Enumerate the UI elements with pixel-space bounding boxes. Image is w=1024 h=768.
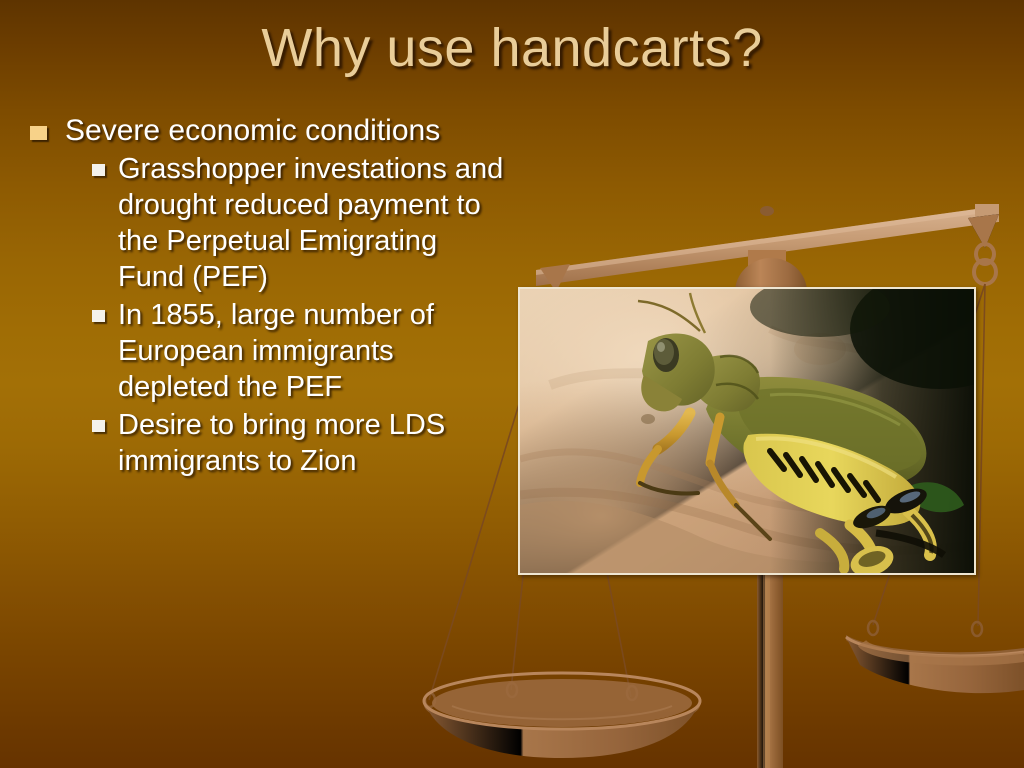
scale-right-pan — [846, 635, 1024, 693]
bullet-item-level2: Grasshopper investations and drought red… — [18, 151, 518, 295]
slide-body: Severe economic conditions Grasshopper i… — [18, 112, 518, 481]
scale-left-string-loops — [425, 683, 637, 707]
bullet-text: Grasshopper investations and drought red… — [118, 151, 510, 295]
square-bullet-icon — [30, 126, 47, 140]
grasshopper-photo — [518, 287, 976, 575]
square-bullet-icon — [92, 420, 105, 432]
bullet-text: In 1855, large number of European immigr… — [118, 297, 510, 405]
slide-canvas: Why use handcarts? Severe economic condi… — [0, 0, 1024, 768]
slide-title: Why use handcarts? — [0, 16, 1024, 80]
scale-right-hook — [968, 214, 999, 284]
bullet-item-level2: Desire to bring more LDS immigrants to Z… — [18, 407, 518, 479]
scale-right-string-loops — [868, 621, 982, 636]
bullet-text: Desire to bring more LDS immigrants to Z… — [118, 407, 510, 479]
bullet-item-level2: In 1855, large number of European immigr… — [18, 297, 518, 405]
scale-left-pan — [424, 673, 700, 758]
scale-beam — [536, 204, 999, 286]
bullet-text: Severe economic conditions — [65, 112, 440, 149]
square-bullet-icon — [92, 164, 105, 176]
bullet-item-level1: Severe economic conditions — [18, 112, 518, 149]
square-bullet-icon — [92, 310, 105, 322]
